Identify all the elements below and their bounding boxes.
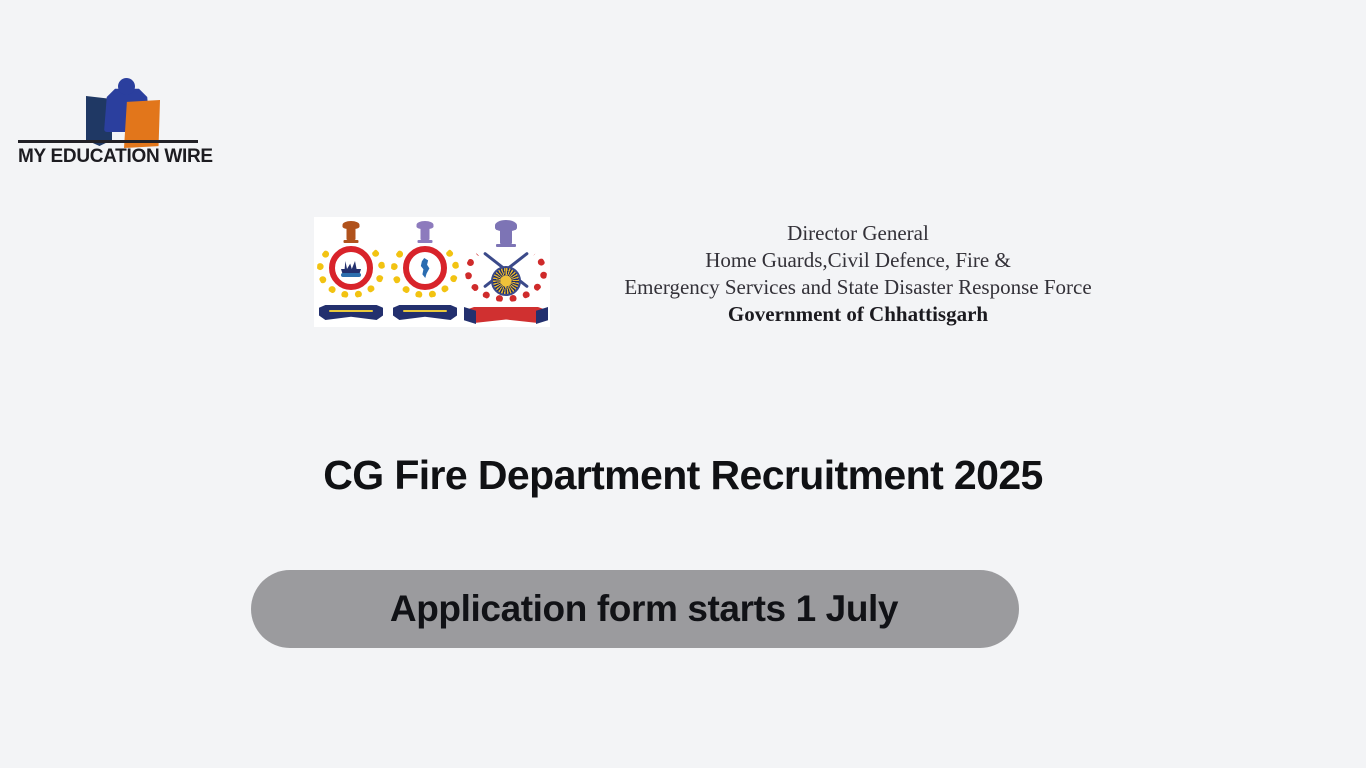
state-map-icon: [414, 258, 436, 278]
page-title: CG Fire Department Recruitment 2025: [0, 452, 1366, 499]
red-ring: [329, 246, 373, 290]
poster-page: { "page": { "background_color": "#f3f4f6…: [0, 0, 1366, 768]
person-head-icon: [118, 78, 135, 95]
emblem-ribbon: [466, 307, 546, 323]
fire-tower-icon: [340, 258, 362, 278]
site-logo: MY EDUCATION WIRE: [18, 72, 208, 172]
logo-wordmark: MY EDUCATION WIRE: [18, 146, 204, 168]
emblem-ribbon: [393, 305, 457, 320]
emblem-ribbon: [319, 305, 383, 320]
department-line-2: Home Guards,Civil Defence, Fire &: [558, 247, 1158, 274]
department-line-1: Director General: [558, 220, 1158, 247]
fire-services-emblem: [316, 220, 386, 324]
emblem-group: [314, 217, 550, 327]
department-title-block: Director General Home Guards,Civil Defen…: [558, 217, 1158, 328]
state-disaster-response-force-emblem: [464, 220, 548, 324]
department-line-4: Government of Chhattisgarh: [558, 301, 1158, 328]
department-header: Director General Home Guards,Civil Defen…: [314, 217, 1158, 328]
red-ring: [403, 246, 447, 290]
sunburst-icon: [491, 266, 521, 296]
home-guards-emblem: [390, 220, 460, 324]
highlight-banner: Application form starts 1 July: [251, 570, 1019, 648]
logo-divider: [18, 140, 198, 143]
highlight-banner-label: Application form starts 1 July: [390, 588, 898, 630]
department-line-3: Emergency Services and State Disaster Re…: [558, 274, 1158, 301]
logo-mark: [18, 72, 208, 140]
